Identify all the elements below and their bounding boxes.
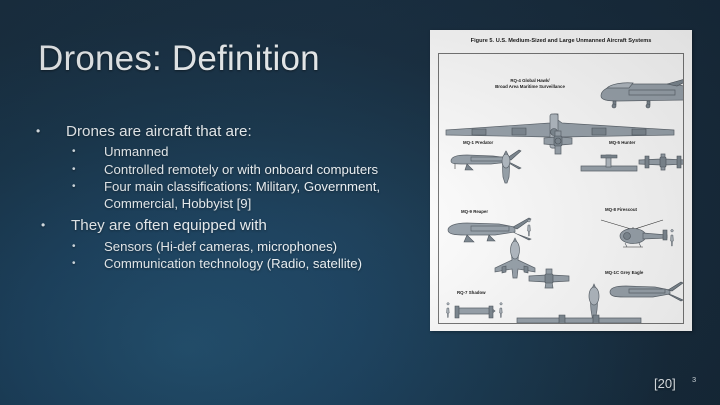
bullet-glyph-icon: • (41, 216, 71, 235)
predator-side-view-icon (447, 147, 527, 177)
hunter-top-view-icon (541, 128, 575, 158)
bullet-level2-text: Sensors (Hi-def cameras, microphones) (104, 238, 418, 255)
presentation-slide: Drones: Definition • Drones are aircraft… (0, 0, 720, 405)
aircraft-label-global-hawk: RQ-4 Global Hawk/ Broad Area Maritime Su… (475, 78, 585, 89)
firescout-helicopter-icon (597, 216, 677, 250)
aircraft-label-shadow: RQ-7 Shadow (457, 290, 486, 296)
bullet-level1: • Drones are aircraft that are: (36, 122, 418, 142)
slide-body: • Drones are aircraft that are: • Unmann… (36, 122, 418, 272)
bullet-group-1: • Drones are aircraft that are: • Unmann… (36, 122, 418, 212)
bullet-level1-text: Drones are aircraft that are: (66, 122, 418, 142)
bullet-level2-text: Communication technology (Radio, satelli… (104, 255, 418, 272)
figure-border-box: RQ-4 Global Hawk/ Broad Area Maritime Su… (438, 53, 684, 324)
slide-page-number: 3 (692, 375, 696, 384)
bullet-level2: • Sensors (Hi-def cameras, microphones) (72, 238, 418, 255)
figure-image: Figure 5. U.S. Medium-Sized and Large Un… (430, 30, 692, 331)
bullet-level1: • They are often equipped with (41, 216, 418, 236)
bullet-level2-text: Four main classifications: Military, Gov… (104, 178, 418, 213)
aircraft-label-reaper: MQ-9 Reaper (461, 209, 488, 215)
bullet-level2: • Four main classifications: Military, G… (72, 178, 418, 213)
bullet-level2: • Unmanned (72, 143, 418, 160)
bullet-level2-text: Unmanned (104, 143, 418, 160)
hunter-plan-view-icon (635, 148, 684, 174)
bullet-glyph-icon: • (72, 143, 104, 160)
slide-title: Drones: Definition (38, 39, 320, 79)
aircraft-label-grey-eagle: MQ-1C Grey Eagle (605, 270, 643, 276)
bullet-level1-text: They are often equipped with (71, 216, 418, 236)
bullet-level2-text: Controlled remotely or with onboard comp… (104, 161, 418, 178)
predator-top-view-icon (497, 149, 515, 187)
bullet-glyph-icon: • (72, 255, 104, 272)
global-hawk-side-view-icon (589, 78, 684, 112)
bullet-glyph-icon: • (72, 238, 104, 255)
bullet-glyph-icon: • (72, 178, 104, 195)
grey-eagle-side-view-icon (607, 279, 684, 309)
figure-diagram: RQ-4 Global Hawk/ Broad Area Maritime Su… (439, 54, 683, 323)
shadow-side-view-icon (445, 300, 509, 322)
aircraft-label-firescout: MQ-8 Firescout (605, 207, 637, 213)
bullet-glyph-icon: • (36, 122, 66, 141)
scale-ruler: 0 10 20 30 40 50 Feet (471, 322, 591, 324)
bullet-level2: • Communication technology (Radio, satel… (72, 255, 418, 272)
bullet-group-2: • They are often equipped with • Sensors… (41, 216, 418, 272)
bullet-level2: • Controlled remotely or with onboard co… (72, 161, 418, 178)
shadow-top-view-icon (523, 266, 577, 292)
hunter-front-view-icon (579, 152, 641, 178)
bullet-glyph-icon: • (72, 161, 104, 178)
figure-caption: Figure 5. U.S. Medium-Sized and Large Un… (430, 30, 692, 49)
citation-reference: [20] (654, 376, 676, 391)
